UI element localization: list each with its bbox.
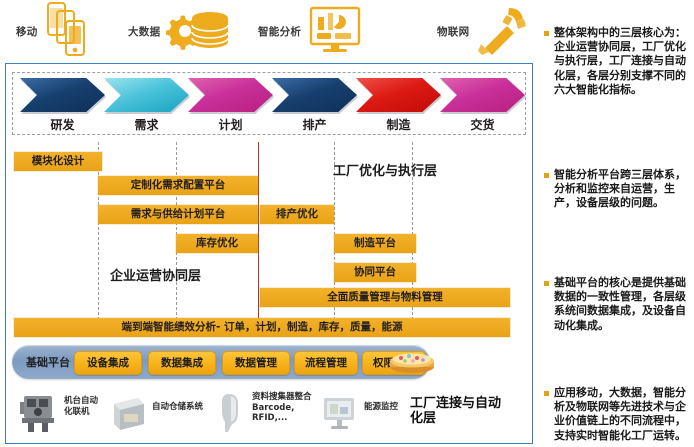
bar-paichanyouhua[interactable]: 排产优化 — [260, 205, 334, 224]
layer-title-factory-exec: 工厂优化与执行层 — [333, 160, 437, 179]
chevron-label-paichan: 排产 — [272, 116, 357, 134]
chevron-item[interactable] — [272, 78, 357, 116]
chevron-item[interactable] — [188, 78, 273, 116]
chevron-item[interactable] — [440, 78, 525, 116]
mobile-phones-icon — [44, 1, 90, 63]
bullet-text-2: 智能分析平台跨三层体系，分析和监控来自运营，生产，设备层级的问题。 — [554, 168, 690, 211]
bar-zhizaopingtai[interactable]: 制造平台 — [334, 234, 416, 253]
bullet-square-icon — [544, 391, 549, 396]
bullet-square-icon — [544, 31, 549, 36]
warehouse-system-icon — [110, 390, 148, 438]
bullet-square-icon — [544, 281, 549, 286]
slide-canvas: 移动 大数据 — [0, 0, 694, 447]
top-item-iot-label: 物联网 — [437, 24, 469, 39]
bar-xietongpingtai[interactable]: 协同平台 — [334, 263, 416, 282]
top-item-mobile-label: 移动 — [16, 24, 38, 39]
chevron-item[interactable] — [104, 78, 189, 116]
foundation-platform-bar: 基础平台 设备集成 数据集成 数据管理 流程管理 权限管理 — [12, 345, 430, 379]
analytics-monitor-icon — [307, 4, 363, 60]
top-item-analytics-label: 智能分析 — [258, 24, 301, 39]
top-item-bigdata-label: 大数据 — [128, 24, 160, 39]
chevron-item[interactable] — [20, 78, 105, 116]
chevron-item[interactable] — [356, 78, 441, 116]
machine-automation-icon — [18, 390, 58, 438]
bar-quanmianzhiliang[interactable]: 全面质量管理与物料管理 — [260, 288, 510, 307]
bar-duandaoduan[interactable]: 端到端智能绩效分析- 订单，计划，制造，库存，质量，能源 — [14, 318, 510, 337]
chevron-label-jiaohuo: 交货 — [440, 116, 525, 134]
foundation-button-data-integration[interactable]: 数据集成 — [148, 351, 216, 375]
bottom-layer-title: 工厂连接与自动化层 — [410, 396, 502, 426]
bottom-label-energy-monitor: 能源监控 — [364, 402, 412, 413]
top-item-analytics: 智能分析 — [258, 0, 363, 63]
bar-dingzhihuaxuqiu[interactable]: 定制化需求配置平台 — [98, 176, 258, 195]
energy-monitor-icon — [320, 390, 360, 438]
foundation-label: 基础平台 — [26, 354, 70, 370]
gear-database-icon — [166, 4, 232, 60]
bullet-item-3: 基础平台的核心是提供基础数据的一致性管理，各层级系统间数据集成，及设备自动化集成… — [544, 276, 690, 333]
robot-arm-icon — [475, 4, 529, 60]
top-item-mobile: 移动 — [16, 0, 90, 63]
foundation-button-process-management[interactable]: 流程管理 — [294, 351, 358, 375]
factory-connection-row: 机台自动 化联机 自动仓储系统 资料搜集器整合 Barcode, RFID,..… — [12, 386, 518, 440]
barcode-scanner-icon — [220, 390, 246, 438]
bar-xuqiugongji[interactable]: 需求与供给计划平台 — [98, 205, 258, 224]
bullet-text-3: 基础平台的核心是提供基础数据的一致性管理，各层级系统间数据集成，及设备自动化集成… — [554, 276, 690, 333]
bullet-square-icon — [544, 173, 549, 178]
bar-kucunyouhua[interactable]: 库存优化 — [176, 234, 258, 253]
foundation-button-data-management[interactable]: 数据管理 — [222, 351, 290, 375]
layer-title-enterprise: 企业运营协同层 — [110, 265, 201, 284]
chevron-label-zhizao: 制造 — [356, 116, 441, 134]
bullet-notes-panel: 整体架构中的三层核心为：企业运营协同层，工厂优化与执行层，工厂连接与自动化层，各… — [544, 26, 690, 441]
chevron-label-yanfa: 研发 — [20, 116, 105, 134]
layered-disc-icon — [388, 350, 436, 374]
divider-solid-red — [258, 142, 259, 320]
bottom-label-warehouse-system: 自动仓储系统 — [152, 402, 218, 413]
top-item-iot: 物联网 — [437, 0, 529, 63]
bullet-item-1: 整体架构中的三层核心为：企业运营协同层，工厂优化与执行层，工厂连接与自动化层，各… — [544, 26, 690, 97]
foundation-button-device-integration[interactable]: 设备集成 — [74, 351, 142, 375]
top-item-bigdata: 大数据 — [128, 0, 232, 63]
technology-icon-row: 移动 大数据 — [0, 0, 545, 63]
bullet-item-4: 应用移动，大数据，智能分析及物联网等先进技术与企业价值链上的不同流程中，支持实时… — [544, 386, 690, 443]
bullet-text-1: 整体架构中的三层核心为：企业运营协同层，工厂优化与执行层，工厂连接与自动化层，各… — [554, 26, 690, 97]
bullet-item-2: 智能分析平台跨三层体系，分析和监控来自运营，生产，设备层级的问题。 — [544, 168, 690, 211]
bullet-text-4: 应用移动，大数据，智能分析及物联网等先进技术与企业价值链上的不同流程中，支持实时… — [554, 386, 690, 443]
divider-dotted-2 — [176, 142, 177, 320]
chevron-label-jihua: 计划 — [188, 116, 273, 134]
chevron-label-xuqiu: 需求 — [104, 116, 189, 134]
bar-mokuaihuasheji[interactable]: 模块化设计 — [14, 152, 102, 171]
